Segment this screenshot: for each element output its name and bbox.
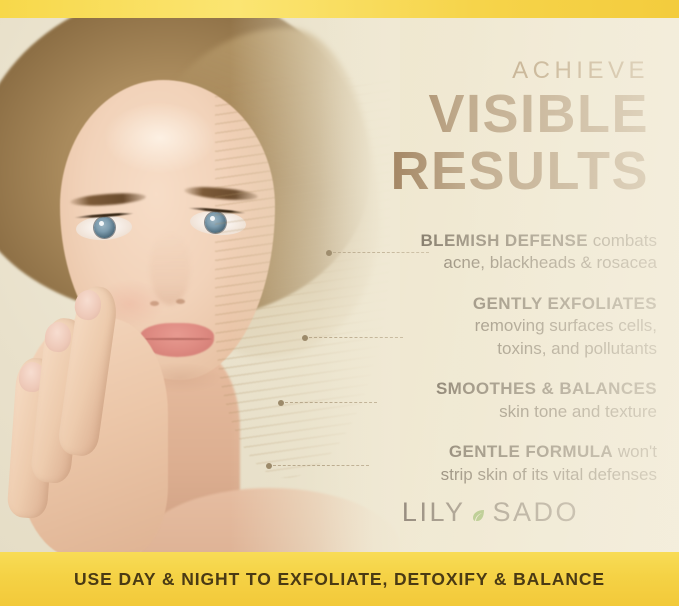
iris-left bbox=[94, 217, 115, 238]
lip-line bbox=[142, 338, 212, 340]
leaf-icon bbox=[471, 499, 486, 514]
benefit-title-row: BLEMISH DEFENSE combats bbox=[247, 230, 657, 252]
benefit-item: GENTLY EXFOLIATES removing surfaces cell… bbox=[247, 293, 657, 360]
benefit-item: BLEMISH DEFENSE combats acne, blackheads… bbox=[247, 230, 657, 275]
footer-tagline: USE DAY & NIGHT TO EXFOLIATE, DETOXIFY &… bbox=[74, 569, 605, 590]
benefit-title-row: GENTLE FORMULA won't bbox=[247, 441, 657, 463]
bottom-color-band: USE DAY & NIGHT TO EXFOLIATE, DETOXIFY &… bbox=[0, 552, 679, 606]
leader-line bbox=[273, 465, 369, 467]
brand-word-2: SADO bbox=[492, 497, 579, 528]
benefit-item: GENTLE FORMULA won't strip skin of its v… bbox=[247, 441, 657, 486]
benefit-title-row: GENTLY EXFOLIATES bbox=[247, 293, 657, 315]
benefit-title-row: SMOOTHES & BALANCES bbox=[247, 378, 657, 400]
benefit-detail: acne, blackheads & rosacea bbox=[247, 252, 657, 274]
benefit-title-suffix: won't bbox=[613, 442, 657, 461]
headline-line-1: ACHIEVE bbox=[349, 58, 649, 84]
benefit-title: SMOOTHES & BALANCES bbox=[436, 379, 657, 398]
headline-line-2: VISIBLE bbox=[349, 86, 649, 143]
benefit-title: GENTLE FORMULA bbox=[449, 442, 613, 461]
benefit-item: SMOOTHES & BALANCES skin tone and textur… bbox=[247, 378, 657, 423]
benefit-title: BLEMISH DEFENSE bbox=[420, 231, 588, 250]
benefit-detail: removing surfaces cells, bbox=[247, 315, 657, 337]
leader-line bbox=[333, 252, 429, 254]
brand-logo: LILY SADO bbox=[402, 497, 579, 528]
benefit-title-suffix: combats bbox=[588, 231, 657, 250]
brand-word-1: LILY bbox=[402, 497, 466, 528]
benefit-title: GENTLY EXFOLIATES bbox=[473, 294, 657, 313]
headline-line-3: RESULTS bbox=[349, 143, 649, 200]
top-color-band bbox=[0, 0, 679, 18]
benefit-list: BLEMISH DEFENSE combats acne, blackheads… bbox=[247, 230, 657, 504]
leader-line bbox=[309, 337, 403, 339]
benefit-detail-2: toxins, and pollutants bbox=[247, 338, 657, 360]
forehead-highlight bbox=[105, 103, 215, 173]
headline: ACHIEVE VISIBLE RESULTS bbox=[349, 58, 649, 200]
nostril-right bbox=[176, 299, 185, 304]
product-banner: ACHIEVE VISIBLE RESULTS BLEMISH DEFENSE … bbox=[0, 0, 679, 606]
leader-bullet-icon bbox=[302, 335, 308, 341]
banner-stage: ACHIEVE VISIBLE RESULTS BLEMISH DEFENSE … bbox=[0, 18, 679, 552]
leader-bullet-icon bbox=[326, 250, 332, 256]
leader-line bbox=[285, 402, 377, 404]
